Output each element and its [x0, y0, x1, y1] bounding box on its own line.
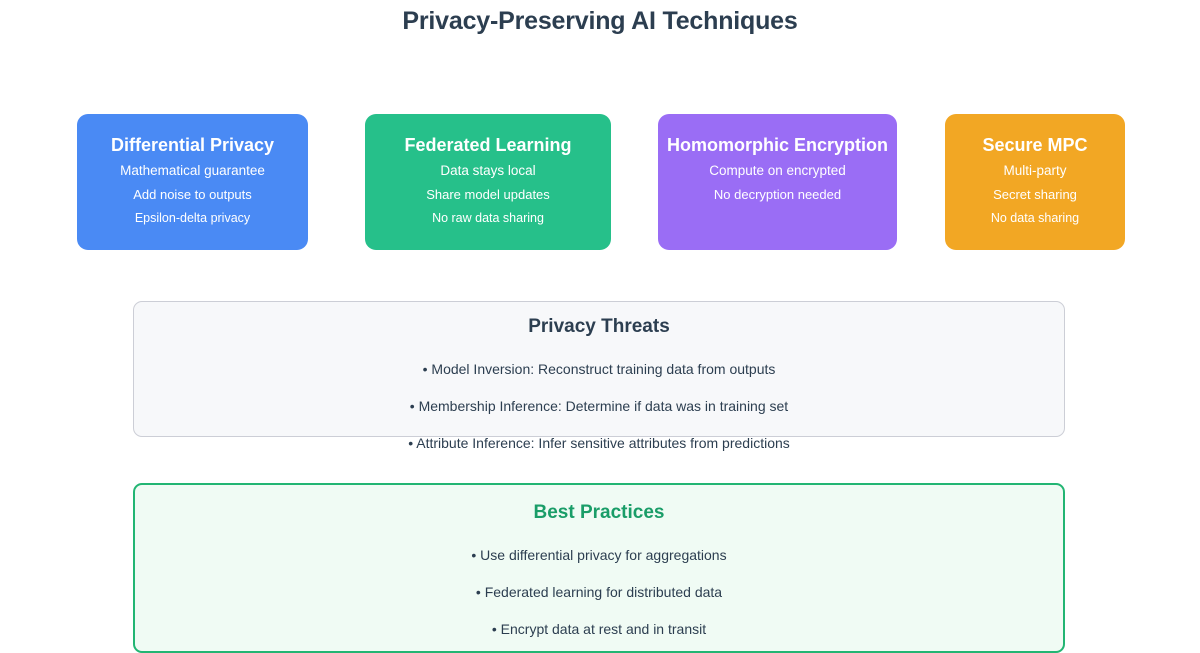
technique-card-secure-mpc[interactable]: Secure MPC Multi-party Secret sharing No… — [945, 114, 1125, 250]
card-title: Differential Privacy — [77, 134, 308, 157]
threat-item: • Membership Inference: Determine if dat… — [134, 397, 1064, 415]
card-item: Compute on encrypted — [658, 164, 897, 178]
practice-item: • Federated learning for distributed dat… — [135, 583, 1063, 601]
card-item-list: Compute on encrypted No decryption neede… — [658, 164, 897, 201]
card-item: No raw data sharing — [365, 212, 611, 225]
page-title: Privacy-Preserving AI Techniques — [0, 7, 1200, 36]
panel-title: Best Practices — [135, 502, 1063, 524]
technique-card-homomorphic-encryption[interactable]: Homomorphic Encryption Compute on encryp… — [658, 114, 897, 250]
card-item: Mathematical guarantee — [77, 164, 308, 178]
card-item-list: Mathematical guarantee Add noise to outp… — [77, 164, 308, 224]
card-title: Federated Learning — [365, 134, 611, 157]
panel-title: Privacy Threats — [134, 316, 1064, 338]
best-practices-panel: Best Practices • Use differential privac… — [133, 483, 1065, 653]
card-item: No data sharing — [945, 212, 1125, 225]
privacy-threats-panel: Privacy Threats • Model Inversion: Recon… — [133, 301, 1065, 437]
technique-card-federated-learning[interactable]: Federated Learning Data stays local Shar… — [365, 114, 611, 250]
card-item-list: Multi-party Secret sharing No data shari… — [945, 164, 1125, 224]
card-item: No decryption needed — [658, 188, 897, 201]
card-item: Secret sharing — [945, 188, 1125, 201]
card-item: Data stays local — [365, 164, 611, 178]
card-item: Add noise to outputs — [77, 188, 308, 201]
card-item: Epsilon-delta privacy — [77, 212, 308, 225]
threat-item: • Model Inversion: Reconstruct training … — [134, 360, 1064, 378]
practice-item: • Use differential privacy for aggregati… — [135, 546, 1063, 564]
card-item: Share model updates — [365, 188, 611, 201]
card-item-list: Data stays local Share model updates No … — [365, 164, 611, 224]
practice-item: • Encrypt data at rest and in transit — [135, 620, 1063, 638]
threat-item: • Attribute Inference: Infer sensitive a… — [134, 434, 1064, 452]
technique-card-differential-privacy[interactable]: Differential Privacy Mathematical guaran… — [77, 114, 308, 250]
card-item: Multi-party — [945, 164, 1125, 178]
card-title: Homomorphic Encryption — [658, 134, 897, 157]
technique-cards-row: Differential Privacy Mathematical guaran… — [77, 114, 1200, 250]
card-title: Secure MPC — [945, 134, 1125, 157]
